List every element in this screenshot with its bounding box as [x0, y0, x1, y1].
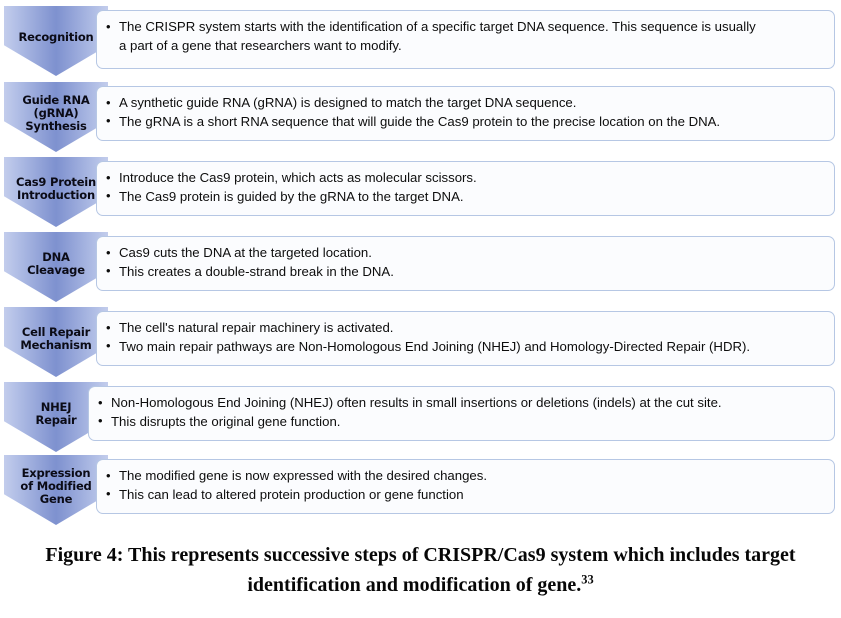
bullet-item: The CRISPR system starts with the identi… — [105, 18, 824, 37]
process-step-cas9-protein-introduction: Cas9 Protein Introduction Introduce the … — [0, 157, 841, 227]
bullet-list: Non-Homologous End Joining (NHEJ) often … — [97, 394, 824, 431]
bullet-item: Cas9 cuts the DNA at the targeted locati… — [105, 244, 824, 263]
bullet-list: The CRISPR system starts with the identi… — [105, 18, 824, 55]
callout-box-expression-of-modified-gene: The modified gene is now expressed with … — [96, 459, 835, 514]
bullet-list: Introduce the Cas9 protein, which acts a… — [105, 169, 824, 206]
bullet-item: Two main repair pathways are Non-Homolog… — [105, 338, 824, 357]
bullet-list: A synthetic guide RNA (gRNA) is designed… — [105, 94, 824, 131]
figure-caption: Figure 4: This represents successive ste… — [0, 537, 841, 600]
chevron-shape-recognition — [4, 6, 108, 76]
callout-box-nhej-repair: Non-Homologous End Joining (NHEJ) often … — [88, 386, 835, 441]
process-step-dna-cleavage: DNA Cleavage Cas9 cuts the DNA at the ta… — [0, 232, 841, 302]
process-step-guide-rna-synthesis: Guide RNA (gRNA) Synthesis A synthetic g… — [0, 82, 841, 152]
process-step-cell-repair-mechanism: Cell Repair Mechanism The cell's natural… — [0, 307, 841, 377]
process-step-expression-of-modified-gene: Expression of Modified Gene The modified… — [0, 455, 841, 525]
bullet-item: The gRNA is a short RNA sequence that wi… — [105, 113, 824, 132]
callout-box-guide-rna-synthesis: A synthetic guide RNA (gRNA) is designed… — [96, 86, 835, 141]
bullet-item: This creates a double-strand break in th… — [105, 263, 824, 282]
callout-box-cas9-protein-introduction: Introduce the Cas9 protein, which acts a… — [96, 161, 835, 216]
callout-box-recognition: The CRISPR system starts with the identi… — [96, 10, 835, 69]
bullet-item: This disrupts the original gene function… — [97, 413, 824, 432]
bullet-item: The modified gene is now expressed with … — [105, 467, 824, 486]
bullet-item: The cell's natural repair machinery is a… — [105, 319, 824, 338]
bullet-list: The modified gene is now expressed with … — [105, 467, 824, 504]
chevron-shape-cell-repair-mechanism — [4, 307, 108, 377]
bullet-item: Introduce the Cas9 protein, which acts a… — [105, 169, 824, 188]
bullet-list: The cell's natural repair machinery is a… — [105, 319, 824, 356]
process-step-recognition: Recognition The CRISPR system starts wit… — [0, 6, 841, 76]
chevron-shape-guide-rna-synthesis — [4, 82, 108, 152]
bullet-continuation: a part of a gene that researchers want t… — [105, 37, 824, 56]
bullet-item: This can lead to altered protein product… — [105, 486, 824, 505]
chevron-shape-dna-cleavage — [4, 232, 108, 302]
callout-box-cell-repair-mechanism: The cell's natural repair machinery is a… — [96, 311, 835, 366]
bullet-list: Cas9 cuts the DNA at the targeted locati… — [105, 244, 824, 281]
process-step-nhej-repair: NHEJ Repair Non-Homologous End Joining (… — [0, 382, 841, 452]
chevron-shape-expression-of-modified-gene — [4, 455, 108, 525]
bullet-item: A synthetic guide RNA (gRNA) is designed… — [105, 94, 824, 113]
crispr-process-flow-diagram: Recognition The CRISPR system starts wit… — [0, 0, 841, 537]
figure-caption-text: Figure 4: This represents successive ste… — [45, 544, 795, 596]
bullet-item: Non-Homologous End Joining (NHEJ) often … — [97, 394, 824, 413]
chevron-shape-cas9-protein-introduction — [4, 157, 108, 227]
bullet-item: The Cas9 protein is guided by the gRNA t… — [105, 188, 824, 207]
callout-box-dna-cleavage: Cas9 cuts the DNA at the targeted locati… — [96, 236, 835, 291]
figure-caption-reference: 33 — [581, 572, 593, 586]
